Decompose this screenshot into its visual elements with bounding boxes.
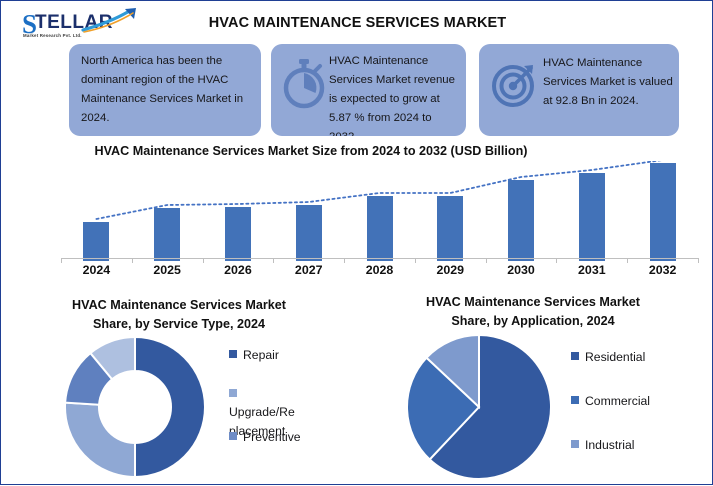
bar-chart-title: HVAC Maintenance Services Market Size fr…	[1, 144, 621, 158]
trend-line	[61, 161, 701, 261]
info-box-cagr-text: HVAC Maintenance Services Market revenue…	[329, 52, 459, 136]
legend-swatch-industrial	[571, 440, 579, 448]
legend-label-commercial: Commercial	[585, 394, 650, 408]
legend-swatch-residential	[571, 352, 579, 360]
service-type-title: HVAC Maintenance Services Market Share, …	[29, 296, 329, 334]
stopwatch-icon	[281, 58, 327, 110]
page-title: HVAC MAINTENANCE SERVICES MARKET	[1, 15, 713, 31]
application-title-line2: Share, by Application, 2024	[383, 312, 683, 331]
info-box-value: HVAC Maintenance Services Market is valu…	[479, 44, 679, 136]
x-label-2027: 2027	[279, 263, 339, 277]
legend-item-industrial[interactable]: Industrial	[571, 437, 634, 453]
info-box-value-text: HVAC Maintenance Services Market is valu…	[543, 54, 673, 111]
legend-swatch-repair	[229, 350, 237, 358]
infographic-page: S TELLAR Market Research Pvt. Ltd. HVAC …	[0, 0, 713, 485]
x-label-2032: 2032	[633, 263, 693, 277]
legend-swatch-upgrade	[229, 389, 237, 397]
legend-label-preventive: Preventive	[243, 429, 301, 445]
info-box-region: North America has been the dominant regi…	[69, 44, 261, 136]
legend-item-upgrade[interactable]: Upgrade/Re placement	[229, 384, 354, 400]
bar-chart-axis	[61, 258, 698, 259]
target-icon	[491, 60, 539, 108]
application-title-line1: HVAC Maintenance Services Market	[383, 293, 683, 312]
pie-slice-repair	[135, 337, 205, 477]
pie-slice-upgrade-replacement	[65, 403, 135, 477]
legend-item-repair[interactable]: Repair	[229, 346, 279, 362]
legend-item-preventive[interactable]: Preventive	[229, 428, 301, 444]
x-label-2030: 2030	[491, 263, 551, 277]
x-label-2029: 2029	[420, 263, 480, 277]
x-label-2026: 2026	[208, 263, 268, 277]
application-title: HVAC Maintenance Services Market Share, …	[383, 293, 683, 331]
legend-label-industrial: Industrial	[585, 438, 634, 452]
service-type-donut	[57, 334, 217, 484]
legend-item-commercial[interactable]: Commercial	[571, 393, 650, 409]
legend-swatch-commercial	[571, 396, 579, 404]
info-box-cagr: HVAC Maintenance Services Market revenue…	[271, 44, 466, 136]
application-pie	[401, 331, 561, 486]
legend-label-repair: Repair	[243, 347, 279, 363]
x-label-2028: 2028	[350, 263, 410, 277]
logo-tagline: Market Research Pvt. Ltd.	[23, 33, 82, 38]
bar-chart	[61, 161, 701, 261]
service-type-title-line1: HVAC Maintenance Services Market	[29, 296, 329, 315]
info-box-region-text: North America has been the dominant regi…	[81, 52, 249, 128]
x-label-2031: 2031	[562, 263, 622, 277]
bar-chart-x-labels: 202420252026202720282029203020312032	[61, 263, 701, 283]
legend-label-residential: Residential	[585, 350, 645, 364]
legend-item-residential[interactable]: Residential	[571, 349, 645, 365]
x-label-2025: 2025	[137, 263, 197, 277]
service-type-title-line2: Share, by Service Type, 2024	[29, 315, 329, 334]
x-label-2024: 2024	[66, 263, 126, 277]
legend-swatch-preventive	[229, 432, 237, 440]
